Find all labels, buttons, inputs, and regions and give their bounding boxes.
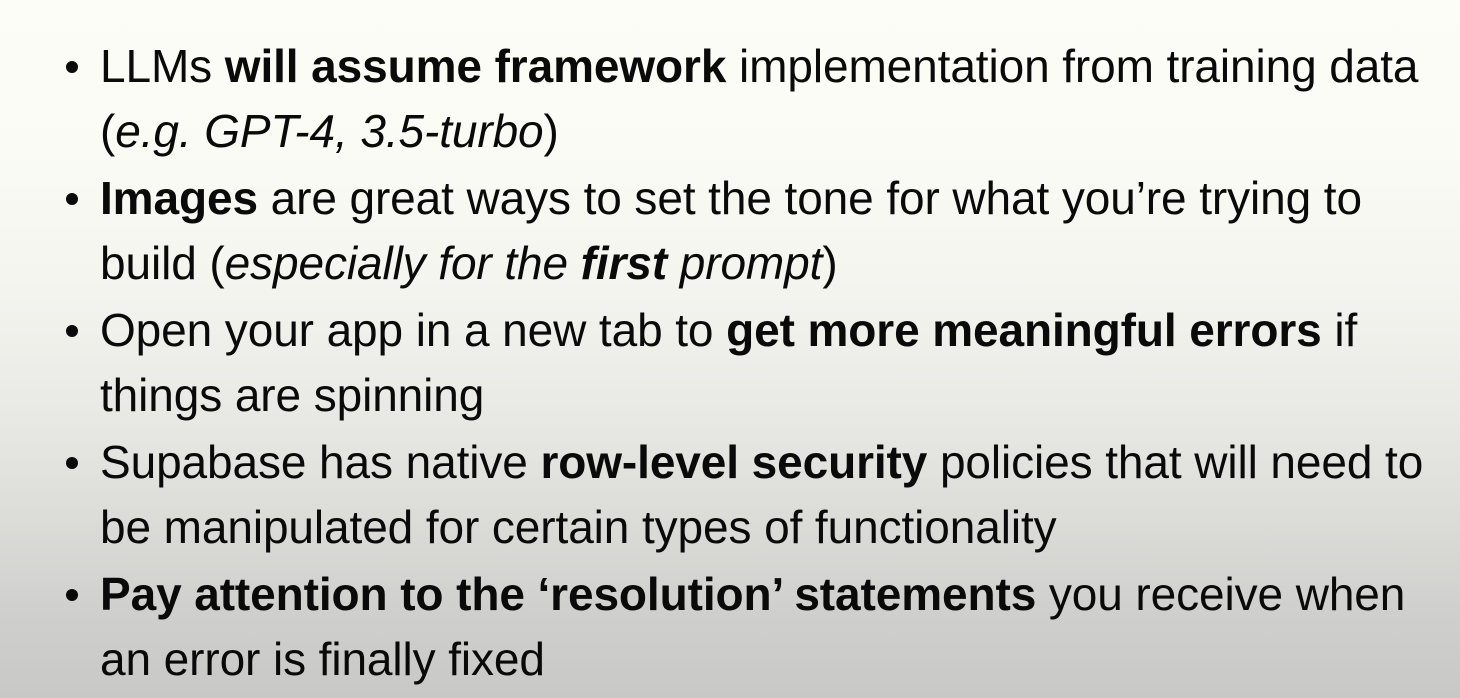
bullet-open-app-new-tab: Open your app in a new tab to get more m… xyxy=(0,298,1460,428)
text-run: LLMs xyxy=(100,40,225,92)
bullet-point-icon xyxy=(66,298,80,363)
text-run: will assume framework xyxy=(225,40,727,92)
bullet-text: Open your app in a new tab to get more m… xyxy=(100,298,1442,428)
bullet-resolution-statements: Pay attention to the ‘resolution’ statem… xyxy=(0,562,1460,692)
bullet-point-icon xyxy=(66,166,80,231)
bullet-point-icon xyxy=(66,34,80,99)
text-run: e.g. GPT-4, 3.5-turbo xyxy=(115,105,543,157)
text-run: prompt xyxy=(667,237,822,289)
text-run: ) xyxy=(822,237,837,289)
text-run: Open your app in a new tab to xyxy=(100,304,726,356)
bullet-point-icon xyxy=(66,430,80,495)
bullet-list: LLMs will assume framework implementatio… xyxy=(0,34,1460,694)
bullet-text: LLMs will assume framework implementatio… xyxy=(100,34,1442,164)
bullet-images-set-tone: Images are great ways to set the tone fo… xyxy=(0,166,1460,296)
text-run: Images xyxy=(100,172,258,224)
text-run: get more meaningful errors xyxy=(726,304,1322,356)
bullet-text: Supabase has native row-level security p… xyxy=(100,430,1442,560)
text-run: Supabase has native xyxy=(100,436,540,488)
bullet-supabase-row-level-security: Supabase has native row-level security p… xyxy=(0,430,1460,560)
slide-canvas: LLMs will assume framework implementatio… xyxy=(0,0,1460,698)
bullet-point-icon xyxy=(66,562,80,627)
bullet-text: Pay attention to the ‘resolution’ statem… xyxy=(100,562,1442,692)
text-run: especially for the xyxy=(225,237,581,289)
text-run: ) xyxy=(544,105,559,157)
bullet-llms-assume-framework: LLMs will assume framework implementatio… xyxy=(0,34,1460,164)
bullet-text: Images are great ways to set the tone fo… xyxy=(100,166,1442,296)
text-run: first xyxy=(581,237,667,289)
text-run: Pay attention to the ‘resolution’ statem… xyxy=(100,568,1036,620)
text-run: row-level security xyxy=(540,436,927,488)
